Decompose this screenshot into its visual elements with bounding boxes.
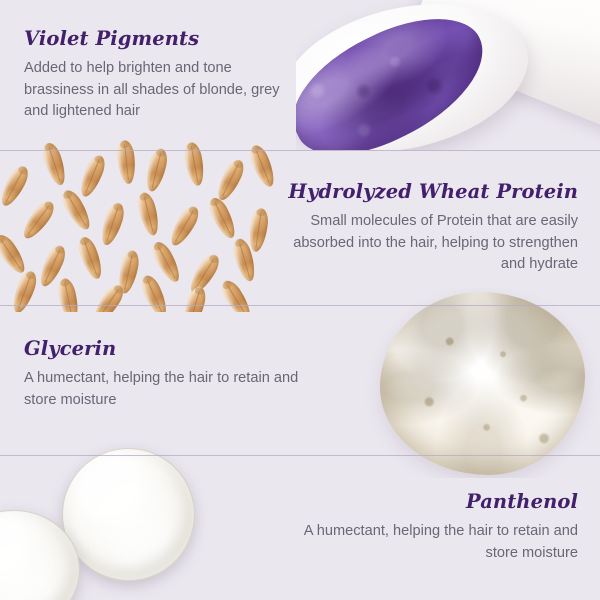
section-divider (0, 455, 600, 456)
clear-gel-droplet (62, 448, 195, 581)
wheat-grain (180, 285, 208, 312)
section-glycerin: Glycerin A humectant, helping the hair t… (24, 338, 304, 411)
section-body-hydrolyzed-wheat-protein: Small molecules of Protein that are easi… (288, 211, 578, 274)
violet-powder (296, 0, 504, 150)
section-heading-panthenol: Panthenol (298, 491, 578, 512)
section-divider (0, 305, 600, 306)
section-heading-hydrolyzed-wheat-protein: Hydrolyzed Wheat Protein (288, 181, 578, 202)
wheat-grain (98, 200, 128, 247)
ingredient-benefits-infographic: Violet Pigments Added to help brighten a… (0, 0, 600, 600)
wheat-grain (135, 191, 162, 238)
section-hydrolyzed-wheat-protein: Hydrolyzed Wheat Protein Small molecules… (288, 181, 578, 275)
wheat-grain (40, 140, 70, 187)
wheat-grain (143, 147, 170, 194)
wheat-grain (138, 272, 171, 312)
wheat-grain (182, 141, 206, 187)
wheat-grain (218, 277, 256, 312)
wheat-grain (76, 152, 108, 199)
wheat-grain (166, 203, 203, 250)
wheat-grain (56, 277, 82, 312)
wheat-grain (205, 195, 240, 242)
section-body-violet-pigments: Added to help brighten and tone brassine… (24, 58, 304, 121)
wheat-grain (116, 140, 138, 185)
cream-texture-swatch (380, 292, 585, 475)
wheat-grain (19, 197, 59, 243)
section-violet-pigments: Violet Pigments Added to help brighten a… (24, 28, 304, 122)
spoon-bowl (296, 0, 543, 150)
violet-powder-spoon-image (296, 0, 600, 150)
cream-texture-image (362, 288, 600, 478)
section-body-glycerin: A humectant, helping the hair to retain … (24, 368, 304, 410)
wheat-grain (0, 163, 32, 210)
section-divider (0, 150, 600, 151)
section-heading-glycerin: Glycerin (24, 338, 304, 359)
section-heading-violet-pigments: Violet Pigments (24, 28, 304, 49)
wheat-grain (75, 234, 106, 281)
gel-droplets-image (0, 440, 210, 600)
wheat-grains-image (0, 140, 300, 312)
section-body-panthenol: A humectant, helping the hair to retain … (298, 521, 578, 563)
wheat-grain (247, 207, 270, 253)
section-panthenol: Panthenol A humectant, helping the hair … (298, 491, 578, 564)
wheat-grain (213, 157, 248, 204)
